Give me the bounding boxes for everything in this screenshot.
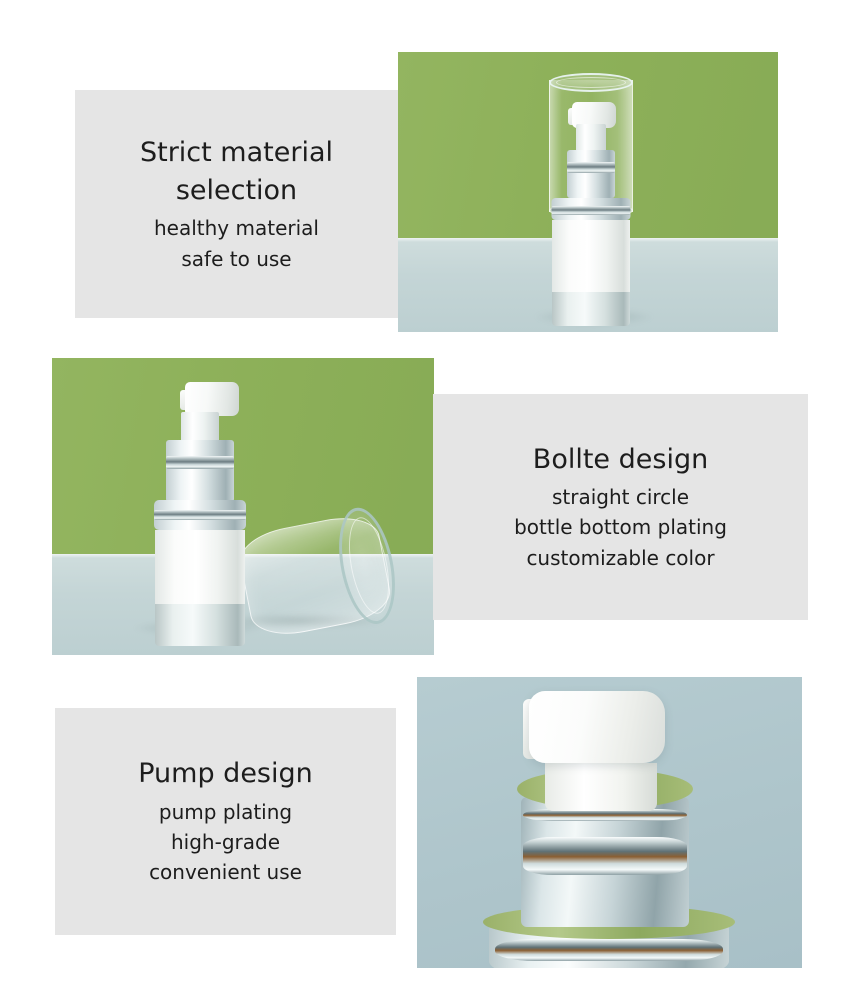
- feature-title-bottle: Bollte design: [533, 441, 708, 479]
- collar-chrome-band: [567, 162, 615, 173]
- feature-title-material: Strict material selection: [140, 134, 333, 211]
- pump-actuator-closeup: [529, 691, 665, 763]
- feature-panel-bottle: Bollte design straight circle bottle bot…: [433, 394, 808, 620]
- collar-chrome-band: [166, 456, 234, 469]
- shoulder-chrome-band: [154, 510, 246, 520]
- feature-collage: Strict material selection healthy materi…: [0, 0, 850, 1000]
- pump-collar: [166, 440, 234, 502]
- pump-head-closeup-photo: [417, 677, 802, 968]
- bottle-base-plating: [552, 292, 630, 326]
- bottle-base-plating: [155, 604, 245, 646]
- shoulder-chrome-ring: [495, 939, 723, 961]
- capped-airless-pump-bottle-photo: [398, 52, 778, 332]
- feature-subtitle-material: healthy material safe to use: [154, 213, 319, 274]
- airless-bottle: [516, 70, 666, 332]
- feature-subtitle-pump: pump plating high-grade convenient use: [149, 797, 302, 888]
- shoulder-chrome-band: [552, 206, 631, 215]
- uncapped-bottle-with-clear-cap-photo: [52, 358, 434, 655]
- feature-subtitle-bottle: straight circle bottle bottom plating cu…: [514, 482, 727, 573]
- pump-actuator: [185, 382, 239, 416]
- pump-collar: [567, 150, 615, 198]
- bottle-body: [155, 530, 245, 604]
- pump-stem-closeup: [545, 763, 657, 811]
- feature-panel-pump: Pump design pump plating high-grade conv…: [55, 708, 396, 935]
- bottle-body: [552, 220, 630, 292]
- feature-panel-material: Strict material selection healthy materi…: [75, 90, 398, 318]
- collar-chrome-band: [523, 837, 687, 875]
- uncapped-airless-bottle: [136, 378, 264, 640]
- overcap-inner-rim: [556, 77, 627, 88]
- feature-title-pump: Pump design: [138, 755, 313, 793]
